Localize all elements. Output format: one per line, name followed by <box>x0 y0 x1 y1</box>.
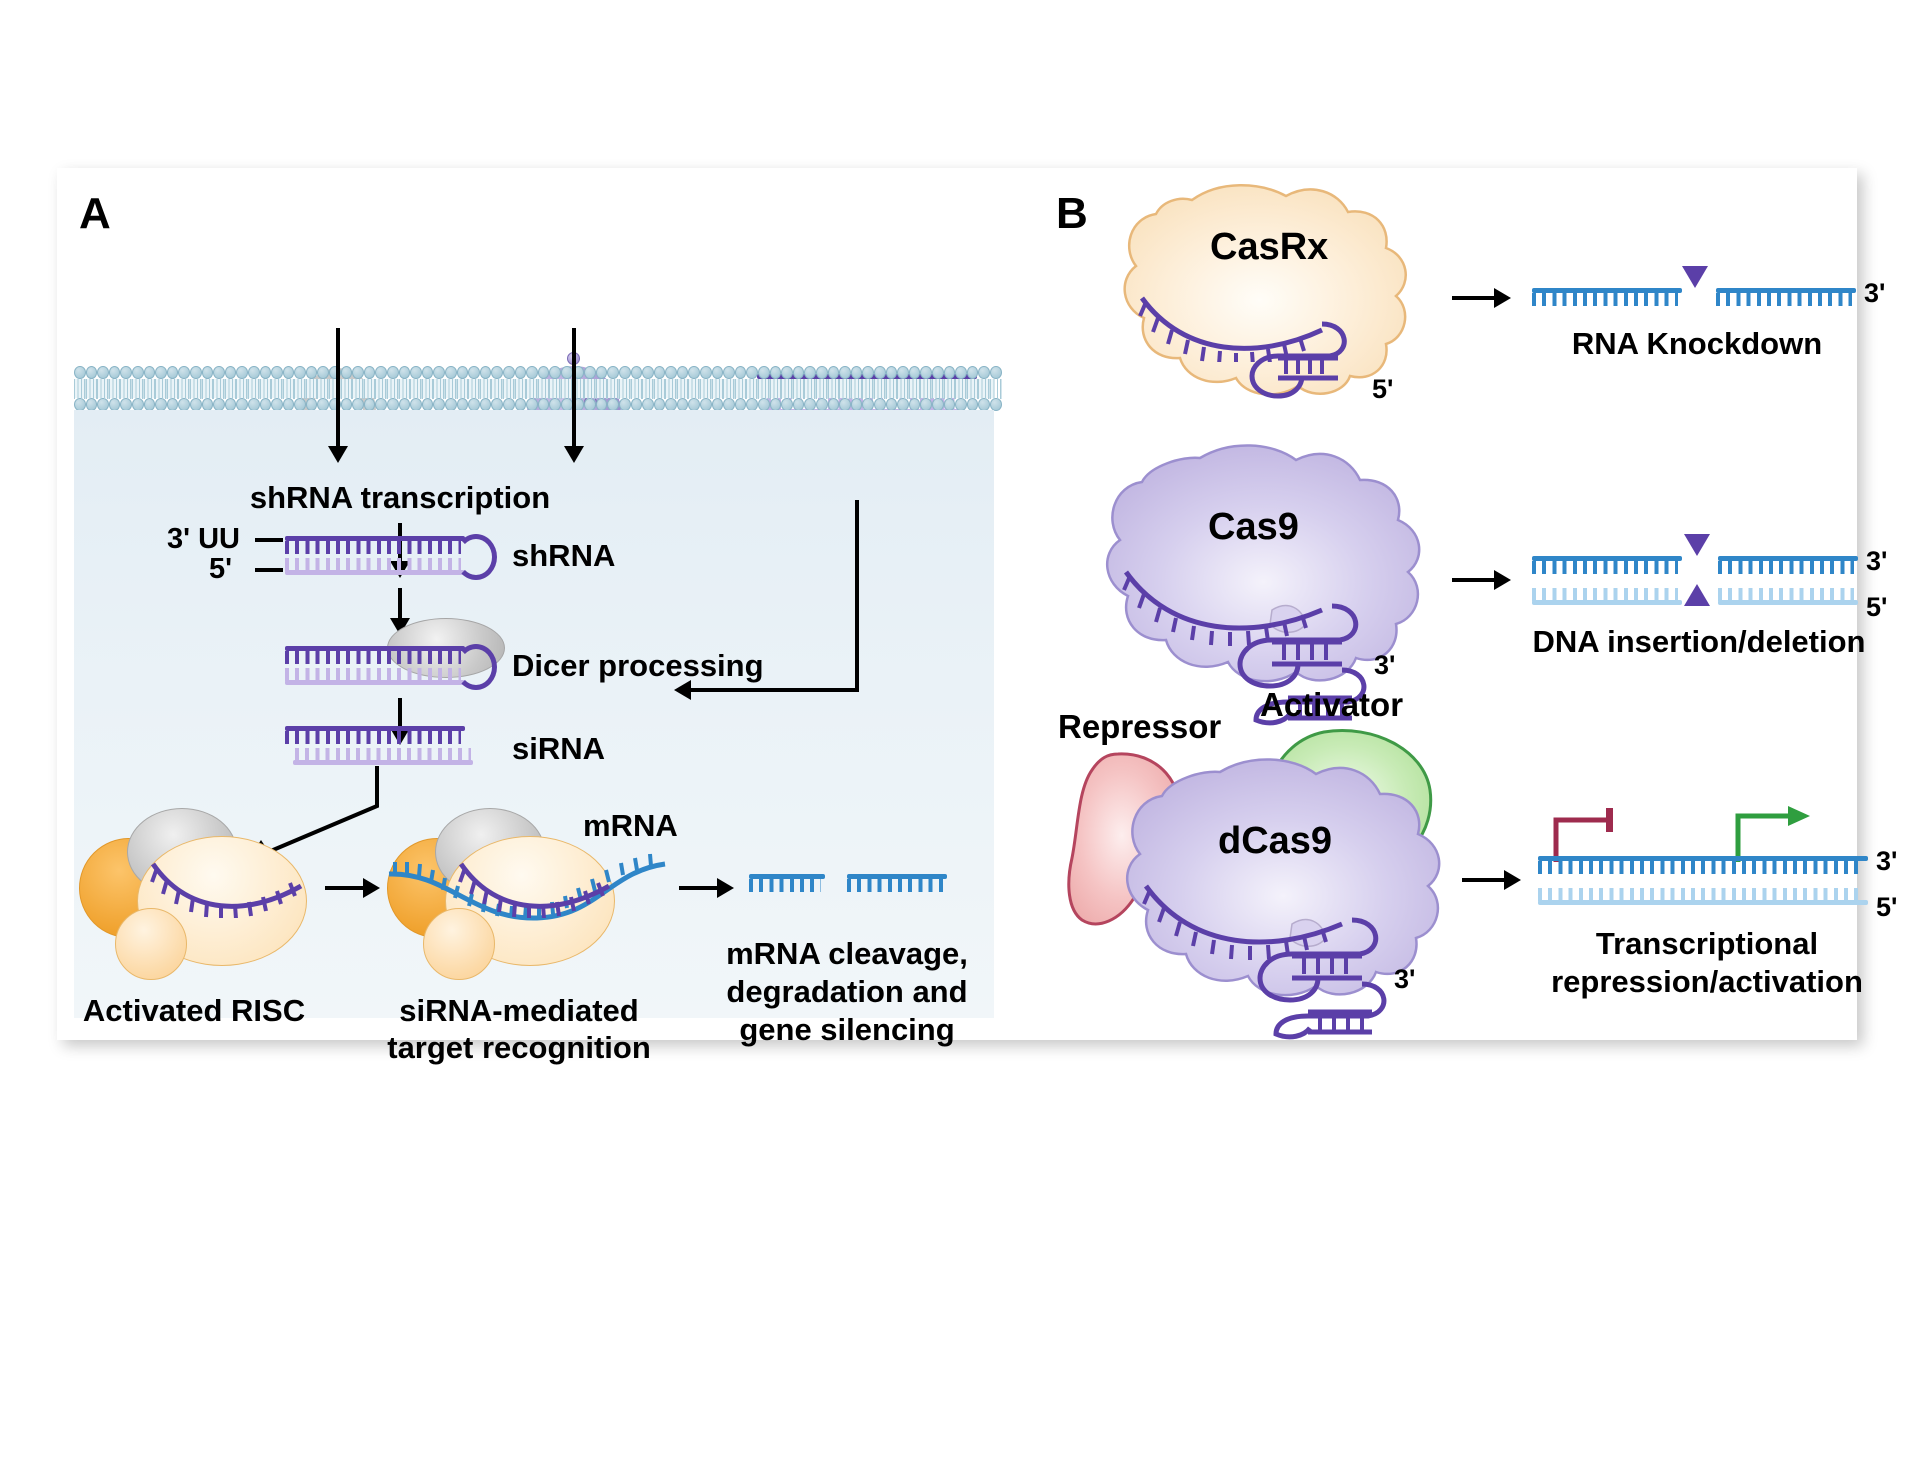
lipid-tail-icon <box>433 389 445 399</box>
lipid-tail-icon <box>700 379 712 389</box>
lipid-tail-icon <box>260 379 272 389</box>
dicer-bound-duplex <box>285 646 465 690</box>
lipid-head-icon <box>433 366 445 379</box>
lipid-tail-icon <box>283 379 295 389</box>
lipid-tail-icon <box>132 379 144 389</box>
outcome-activated-risc: Activated RISC <box>83 993 305 1029</box>
sirna-path-arrow <box>689 688 859 692</box>
lipid-tail-icon <box>109 379 121 389</box>
cas9-label: Cas9 <box>1208 506 1299 549</box>
lipid-tail-icon <box>631 389 643 399</box>
lipid-tail-icon <box>491 379 503 389</box>
panel-b: B CasRx <box>1042 168 1857 1040</box>
lipid-head-icon <box>480 366 492 379</box>
membrane-lipid-tails <box>74 379 994 389</box>
lipid-tail-icon <box>828 389 840 399</box>
dicer-loop-icon <box>455 644 497 690</box>
lipid-tail-icon <box>920 379 932 389</box>
shrna-loop-icon <box>455 534 497 580</box>
lipid-tail-icon <box>317 379 329 389</box>
lipid-head-icon <box>944 366 956 379</box>
lipid-tail-icon <box>654 389 666 399</box>
lipid-tail-icon <box>352 379 364 389</box>
lipid-tail-icon <box>978 379 990 389</box>
membrane-lipid-row <box>74 366 994 380</box>
lipid-tail-icon <box>897 389 909 399</box>
lipid-tail-icon <box>132 389 144 399</box>
lipid-tail-icon <box>236 389 248 399</box>
lipid-tail-icon <box>399 389 411 399</box>
lipid-head-icon <box>677 366 689 379</box>
casrx-target-rna-left <box>1532 288 1682 310</box>
lipid-tail-icon <box>515 389 527 399</box>
lipid-head-icon <box>793 366 805 379</box>
lipid-head-icon <box>816 366 828 379</box>
lipid-head-icon <box>688 366 700 379</box>
lipid-tail-icon <box>735 389 747 399</box>
lipid-tail-icon <box>410 389 422 399</box>
lipid-tail-icon <box>97 379 109 389</box>
lipid-tail-icon <box>804 389 816 399</box>
risc-small-subunit <box>115 908 187 980</box>
lipid-tail-icon <box>584 379 596 389</box>
lipid-head-icon <box>283 366 295 379</box>
lipid-head-icon <box>387 366 399 379</box>
lipid-tail-icon <box>677 379 689 389</box>
lipid-head-icon <box>920 366 932 379</box>
lipid-tail-icon <box>178 389 190 399</box>
lipid-tail-icon <box>294 389 306 399</box>
lipid-tail-icon <box>538 379 550 389</box>
outcome-target-recognition-1: siRNA-mediated <box>399 993 638 1029</box>
lipid-tail-icon <box>225 389 237 399</box>
lipid-tail-icon <box>213 379 225 389</box>
lipid-head-icon <box>955 366 967 379</box>
lipid-tail-icon <box>770 389 782 399</box>
lipid-tail-icon <box>422 389 434 399</box>
lipid-tail-icon <box>236 379 248 389</box>
lipid-tail-icon <box>909 379 921 389</box>
lipid-tail-icon <box>839 389 851 399</box>
lipid-head-icon <box>120 366 132 379</box>
lipid-tail-icon <box>758 379 770 389</box>
lipid-head-icon <box>236 366 248 379</box>
lipid-tail-icon <box>248 379 260 389</box>
lipid-tail-icon <box>491 389 503 399</box>
lipid-tail-icon <box>619 379 631 389</box>
dicer-label: Dicer processing <box>512 648 764 684</box>
cas9-cut-bottom-icon <box>1684 584 1710 606</box>
dcas9-scaffold-hairpins <box>1212 912 1422 1042</box>
step-shrna-transcription: shRNA transcription <box>250 480 550 516</box>
lipid-tail-icon <box>515 379 527 389</box>
lipid-tail-icon <box>74 379 86 389</box>
panel-b-letter: B <box>1056 192 1088 236</box>
lipid-head-icon <box>422 366 434 379</box>
lipid-tail-icon <box>932 389 944 399</box>
lipid-head-icon <box>990 366 1002 379</box>
lipid-tail-icon <box>561 379 573 389</box>
lipid-tail-icon <box>723 379 735 389</box>
lipid-head-icon <box>700 366 712 379</box>
lipid-head-icon <box>178 366 190 379</box>
cas9-dna-right <box>1718 556 1858 608</box>
lipid-head-icon <box>155 366 167 379</box>
lipid-head-icon <box>828 366 840 379</box>
lipid-tail-icon <box>457 389 469 399</box>
lipid-head-icon <box>503 366 515 379</box>
lipid-tail-icon <box>967 389 979 399</box>
lipid-tail-icon <box>445 389 457 399</box>
lipid-tail-icon <box>387 389 399 399</box>
lipid-head-icon <box>132 366 144 379</box>
lipid-tail-icon <box>665 379 677 389</box>
lipid-tail-icon <box>260 389 272 399</box>
lipid-head-icon <box>642 366 654 379</box>
lipid-head-icon <box>874 366 886 379</box>
lipid-head-icon <box>619 366 631 379</box>
lipid-tail-icon <box>526 389 538 399</box>
lipid-tail-icon <box>317 389 329 399</box>
lipid-tail-icon <box>874 389 886 399</box>
outcome-target-recognition-2: target recognition <box>387 1030 651 1066</box>
shrna-3prime-tick <box>255 538 283 542</box>
lipid-head-icon <box>341 366 353 379</box>
lipid-head-icon <box>654 366 666 379</box>
lipid-head-icon <box>202 366 214 379</box>
lipid-tail-icon <box>839 379 851 389</box>
activator-label: Activator <box>1260 686 1403 724</box>
outcome-dna-indel: DNA insertion/deletion <box>1514 624 1884 660</box>
lipid-tail-icon <box>526 379 538 389</box>
lipid-tail-icon <box>387 379 399 389</box>
lipid-head-icon <box>538 366 550 379</box>
lipid-tail-icon <box>851 389 863 399</box>
lipid-head-icon <box>886 366 898 379</box>
lipid-head-icon <box>758 366 770 379</box>
cas9-dna-left <box>1532 556 1682 608</box>
lipid-head-icon <box>897 366 909 379</box>
lipid-tail-icon <box>538 389 550 399</box>
target-guide-strand <box>457 858 617 918</box>
dcas9-output-3prime: 3' <box>1876 846 1897 877</box>
lipid-head-icon <box>410 366 422 379</box>
lipid-tail-icon <box>793 389 805 399</box>
arrow-to-cleavage <box>679 886 719 890</box>
lipid-tail-icon <box>503 379 515 389</box>
lipid-tail-icon <box>851 379 863 389</box>
casrx-cut-marker-icon <box>1682 266 1708 288</box>
sirna-path-vertical <box>855 500 859 692</box>
repressor-label: Repressor <box>1058 708 1221 746</box>
lipid-tail-icon <box>364 389 376 399</box>
lipid-head-icon <box>468 366 480 379</box>
cell-membrane <box>74 366 994 412</box>
lipid-head-icon <box>248 366 260 379</box>
lipid-tail-icon <box>746 389 758 399</box>
lipid-tail-icon <box>897 379 909 389</box>
lipid-tail-icon <box>549 379 561 389</box>
cas9-output-5prime: 5' <box>1866 592 1887 623</box>
lipid-tail-icon <box>654 379 666 389</box>
lipid-tail-icon <box>862 389 874 399</box>
lipid-head-icon <box>851 366 863 379</box>
lipid-tail-icon <box>932 379 944 389</box>
lipid-tail-icon <box>144 389 156 399</box>
lipid-head-icon <box>190 366 202 379</box>
lipid-head-icon <box>723 366 735 379</box>
risc-guide-strand <box>149 858 309 918</box>
lipid-head-icon <box>74 366 86 379</box>
lipid-tail-icon <box>422 379 434 389</box>
lipid-tail-icon <box>213 389 225 399</box>
lipid-head-icon <box>491 366 503 379</box>
lipid-head-icon <box>457 366 469 379</box>
lipid-tail-icon <box>642 379 654 389</box>
membrane-lipid-tails <box>74 389 994 399</box>
outcome-transcriptional-1: Transcriptional <box>1522 926 1892 962</box>
lipid-head-icon <box>862 366 874 379</box>
lipid-tail-icon <box>596 379 608 389</box>
lipid-tail-icon <box>283 389 295 399</box>
lipid-head-icon <box>804 366 816 379</box>
lipid-tail-icon <box>109 389 121 399</box>
outcome-silencing-2: degradation and <box>726 974 967 1010</box>
lipid-head-icon <box>375 366 387 379</box>
lipid-tail-icon <box>375 379 387 389</box>
lipid-head-icon <box>596 366 608 379</box>
lipid-tail-icon <box>97 389 109 399</box>
lipid-tail-icon <box>955 389 967 399</box>
lipid-tail-icon <box>352 389 364 399</box>
lipid-tail-icon <box>642 389 654 399</box>
shrna-label: shRNA <box>512 538 615 574</box>
mrna-fragment-1 <box>749 874 825 894</box>
lipid-head-icon <box>515 366 527 379</box>
lipid-tail-icon <box>480 379 492 389</box>
lipid-tail-icon <box>816 379 828 389</box>
lipid-head-icon <box>549 366 561 379</box>
lipid-tail-icon <box>619 389 631 399</box>
lipid-tail-icon <box>781 389 793 399</box>
lipid-head-icon <box>735 366 747 379</box>
lipid-tail-icon <box>503 389 515 399</box>
lipid-head-icon <box>306 366 318 379</box>
lipid-tail-icon <box>144 379 156 389</box>
lipid-head-icon <box>978 366 990 379</box>
lipid-tail-icon <box>457 379 469 389</box>
lipid-tail-icon <box>712 389 724 399</box>
lipid-tail-icon <box>155 389 167 399</box>
lipid-tail-icon <box>886 389 898 399</box>
lipid-head-icon <box>271 366 283 379</box>
lipid-tail-icon <box>770 379 782 389</box>
lipid-tail-icon <box>468 389 480 399</box>
lipid-head-icon <box>770 366 782 379</box>
lipid-head-icon <box>86 366 98 379</box>
cas9-output-3prime: 3' <box>1866 546 1887 577</box>
lipid-tail-icon <box>155 379 167 389</box>
lipid-tail-icon <box>341 389 353 399</box>
lipid-tail-icon <box>920 389 932 399</box>
cas9-cut-top-icon <box>1684 534 1710 556</box>
arrow-virus-entry <box>572 328 576 448</box>
lipid-tail-icon <box>781 379 793 389</box>
lipid-tail-icon <box>990 389 1002 399</box>
lipid-tail-icon <box>271 389 283 399</box>
lipid-tail-icon <box>306 389 318 399</box>
lipid-head-icon <box>213 366 225 379</box>
lipid-tail-icon <box>862 379 874 389</box>
lipid-tail-icon <box>202 389 214 399</box>
lipid-tail-icon <box>596 389 608 399</box>
outcome-silencing-3: gene silencing <box>739 1012 954 1048</box>
lipid-head-icon <box>260 366 272 379</box>
lipid-head-icon <box>352 366 364 379</box>
shrna-5prime-tick <box>255 568 283 572</box>
lipid-tail-icon <box>445 379 457 389</box>
lipid-tail-icon <box>886 379 898 389</box>
lipid-tail-icon <box>607 379 619 389</box>
lipid-tail-icon <box>202 379 214 389</box>
lipid-tail-icon <box>955 379 967 389</box>
lipid-tail-icon <box>607 389 619 399</box>
lipid-head-icon <box>526 366 538 379</box>
lipid-head-icon <box>167 366 179 379</box>
lipid-tail-icon <box>746 379 758 389</box>
dcas9-dna-duplex <box>1538 856 1868 908</box>
shrna-5prime-label: 5' <box>209 553 232 586</box>
panel-a: A shRNA plasmid shRNA virus siRNA (synth… <box>57 168 1042 1040</box>
lipid-tail-icon <box>688 389 700 399</box>
lipid-tail-icon <box>294 379 306 389</box>
lipid-head-icon <box>225 366 237 379</box>
lipid-tail-icon <box>399 379 411 389</box>
lipid-head-icon <box>445 366 457 379</box>
lipid-tail-icon <box>978 389 990 399</box>
lipid-tail-icon <box>700 389 712 399</box>
lipid-tail-icon <box>804 379 816 389</box>
lipid-tail-icon <box>712 379 724 389</box>
lipid-tail-icon <box>190 379 202 389</box>
outcome-transcriptional-2: repression/activation <box>1522 964 1892 1000</box>
lipid-tail-icon <box>468 379 480 389</box>
lipid-head-icon <box>909 366 921 379</box>
figure-page: A shRNA plasmid shRNA virus siRNA (synth… <box>0 0 1920 1472</box>
mrna-fragment-2 <box>847 874 947 894</box>
lipid-tail-icon <box>480 389 492 399</box>
lipid-tail-icon <box>631 379 643 389</box>
lipid-tail-icon <box>828 379 840 389</box>
lipid-head-icon <box>317 366 329 379</box>
lipid-tail-icon <box>584 389 596 399</box>
lipid-head-icon <box>294 366 306 379</box>
casrx-output-3prime: 3' <box>1864 278 1885 309</box>
lipid-tail-icon <box>816 389 828 399</box>
lipid-tail-icon <box>120 389 132 399</box>
lipid-tail-icon <box>944 389 956 399</box>
casrx-5prime-label: 5' <box>1372 374 1393 405</box>
lipid-tail-icon <box>190 389 202 399</box>
lipid-tail-icon <box>225 379 237 389</box>
lipid-head-icon <box>665 366 677 379</box>
lipid-tail-icon <box>665 389 677 399</box>
sirna-label: siRNA <box>512 731 605 767</box>
arrow-to-dicer <box>398 588 402 620</box>
sirna-duplex <box>285 726 465 770</box>
lipid-tail-icon <box>909 389 921 399</box>
casrx-target-rna-right <box>1716 288 1856 310</box>
lipid-head-icon <box>399 366 411 379</box>
lipid-tail-icon <box>433 379 445 389</box>
lipid-tail-icon <box>967 379 979 389</box>
dcas9-3prime-label: 3' <box>1394 964 1415 995</box>
lipid-tail-icon <box>758 389 770 399</box>
lipid-head-icon <box>364 366 376 379</box>
lipid-tail-icon <box>677 389 689 399</box>
lipid-tail-icon <box>375 389 387 399</box>
lipid-tail-icon <box>990 379 1002 389</box>
lipid-tail-icon <box>549 389 561 399</box>
lipid-head-icon <box>584 366 596 379</box>
lipid-tail-icon <box>793 379 805 389</box>
cas9-3prime-label: 3' <box>1374 650 1395 681</box>
lipid-tail-icon <box>306 379 318 389</box>
lipid-tail-icon <box>248 389 260 399</box>
lipid-tail-icon <box>561 389 573 399</box>
arrow-cas9-output <box>1452 578 1496 582</box>
lipid-tail-icon <box>688 379 700 389</box>
lipid-head-icon <box>839 366 851 379</box>
lipid-head-icon <box>712 366 724 379</box>
lipid-tail-icon <box>86 379 98 389</box>
lipid-tail-icon <box>341 379 353 389</box>
lipid-tail-icon <box>167 379 179 389</box>
lipid-head-icon <box>561 366 573 379</box>
dcas9-label: dCas9 <box>1218 820 1332 863</box>
lipid-tail-icon <box>364 379 376 389</box>
arrow-casrx-output <box>1452 296 1496 300</box>
lipid-tail-icon <box>735 379 747 389</box>
casrx-scaffold-hairpin <box>1222 318 1382 402</box>
shrna-3prime-label: 3' UU <box>167 523 240 556</box>
lipid-tail-icon <box>410 379 422 389</box>
outcome-rna-knockdown: RNA Knockdown <box>1532 326 1862 362</box>
outcome-silencing-1: mRNA cleavage, <box>726 936 968 972</box>
lipid-head-icon <box>607 366 619 379</box>
lipid-head-icon <box>631 366 643 379</box>
lipid-tail-icon <box>723 389 735 399</box>
lipid-tail-icon <box>120 379 132 389</box>
lipid-tail-icon <box>178 379 190 389</box>
lipid-head-icon <box>746 366 758 379</box>
arrow-plasmid-entry <box>336 328 340 448</box>
lipid-tail-icon <box>74 389 86 399</box>
lipid-head-icon <box>967 366 979 379</box>
dcas9-output-5prime: 5' <box>1876 892 1897 923</box>
lipid-head-icon <box>781 366 793 379</box>
shrna-hairpin-duplex <box>285 536 465 580</box>
lipid-tail-icon <box>86 389 98 399</box>
figure-card: A shRNA plasmid shRNA virus siRNA (synth… <box>57 168 1857 1040</box>
lipid-tail-icon <box>944 379 956 389</box>
lipid-tail-icon <box>167 389 179 399</box>
lipid-head-icon <box>97 366 109 379</box>
arrow-risc-to-target <box>325 886 365 890</box>
lipid-head-icon <box>109 366 121 379</box>
arrow-dcas9-output <box>1462 878 1506 882</box>
lipid-tail-icon <box>271 379 283 389</box>
